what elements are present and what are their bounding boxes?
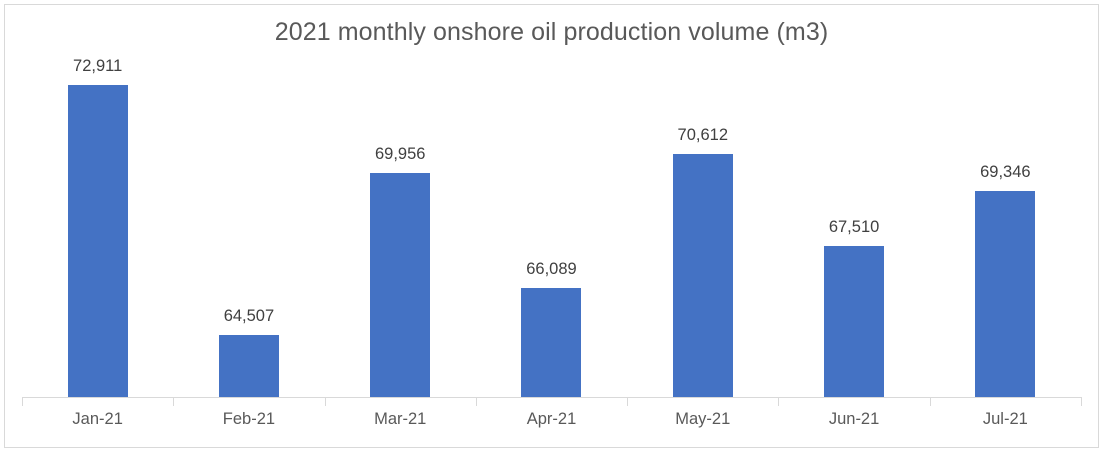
axis-tick: [476, 397, 477, 406]
axis-tick: [778, 397, 779, 406]
category-label: Jan-21: [72, 410, 122, 429]
axis-tick: [325, 397, 326, 406]
bar[interactable]: [219, 335, 279, 397]
bar-group: 72,911: [22, 62, 173, 397]
bar-group: 70,612: [627, 62, 778, 397]
category-label: May-21: [675, 410, 730, 429]
bar-value-label: 69,346: [980, 163, 1030, 182]
bar-group: 69,346: [930, 62, 1081, 397]
bar-value-label: 67,510: [829, 218, 879, 237]
bar[interactable]: [824, 246, 884, 397]
chart-title: 2021 monthly onshore oil production volu…: [0, 18, 1103, 47]
category-label: Jul-21: [983, 410, 1028, 429]
bar-group: 64,507: [173, 62, 324, 397]
axis-tick: [173, 397, 174, 406]
category-axis-line: [22, 397, 1081, 398]
chart-container: 2021 monthly onshore oil production volu…: [0, 0, 1103, 452]
bar[interactable]: [521, 288, 581, 397]
category-label: Jun-21: [829, 410, 879, 429]
axis-tick: [627, 397, 628, 406]
bar[interactable]: [673, 154, 733, 397]
axis-tick: [1081, 397, 1082, 406]
bar-group: 66,089: [476, 62, 627, 397]
axis-tick: [22, 397, 23, 406]
bar[interactable]: [975, 191, 1035, 397]
bar-value-label: 70,612: [678, 126, 728, 145]
bar-group: 69,956: [325, 62, 476, 397]
bar-value-label: 66,089: [526, 260, 576, 279]
bar[interactable]: [370, 173, 430, 397]
category-label: Mar-21: [374, 410, 426, 429]
bar-value-label: 69,956: [375, 145, 425, 164]
bar[interactable]: [68, 85, 128, 397]
bar-group: 67,510: [778, 62, 929, 397]
category-label: Apr-21: [527, 410, 577, 429]
category-label: Feb-21: [223, 410, 275, 429]
axis-tick: [930, 397, 931, 406]
bar-value-label: 64,507: [224, 307, 274, 326]
category-axis-labels: Jan-21Feb-21Mar-21Apr-21May-21Jun-21Jul-…: [22, 410, 1081, 438]
plot-area: 72,91164,50769,95666,08970,61267,51069,3…: [22, 62, 1081, 397]
bar-value-label: 72,911: [73, 57, 122, 76]
